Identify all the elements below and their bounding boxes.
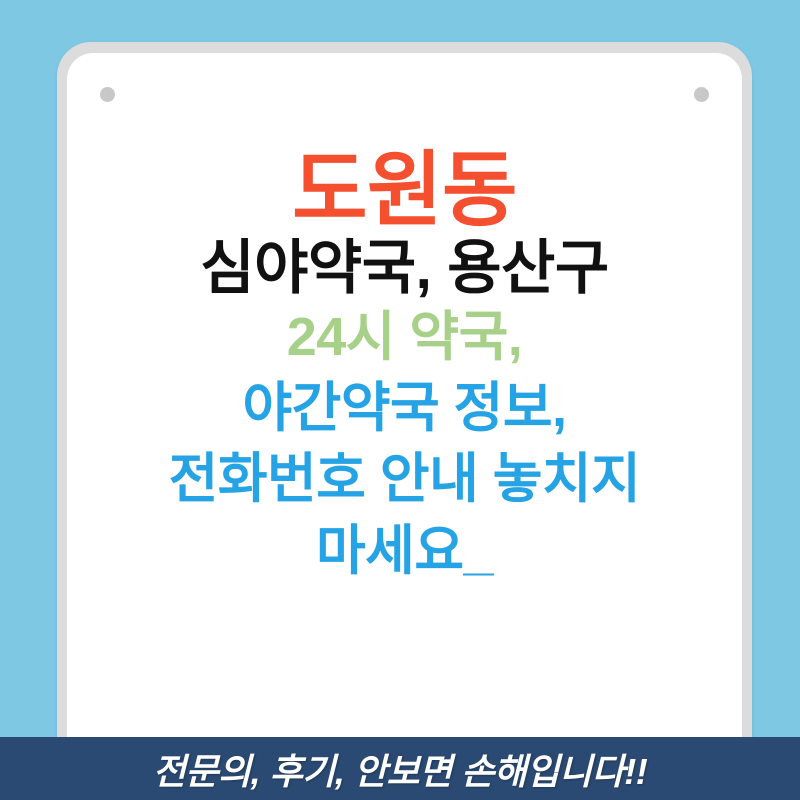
sign-plate-frame: 도원동 심야약국, 용산구 24시 약국, 야간약국 정보, 전화번호 안내 놓… <box>57 42 752 800</box>
headline-subtitle: 심야약국, 용산구 <box>81 235 728 302</box>
screw-dot-right-icon <box>694 87 709 102</box>
screw-dot-left-icon <box>100 87 115 102</box>
thumbnail-canvas: 도원동 심야약국, 용산구 24시 약국, 야간약국 정보, 전화번호 안내 놓… <box>0 0 800 800</box>
bottom-banner-text: 전문의, 후기, 안보면 손해입니다!! <box>153 743 648 795</box>
headline-line-blue-1: 야간약국 정보, <box>81 373 728 444</box>
sign-white-card: 도원동 심야약국, 용산구 24시 약국, 야간약국 정보, 전화번호 안내 놓… <box>67 53 742 800</box>
headline-line-green: 24시 약국, <box>81 302 728 373</box>
headline-title: 도원동 <box>81 149 728 233</box>
headline-line-blue-2: 전화번호 안내 놓치지 <box>81 444 728 515</box>
headline-text-stack: 도원동 심야약국, 용산구 24시 약국, 야간약국 정보, 전화번호 안내 놓… <box>67 149 742 587</box>
bottom-banner: 전문의, 후기, 안보면 손해입니다!! <box>0 737 800 800</box>
headline-line-blue-3: 마세요_ <box>81 516 728 587</box>
